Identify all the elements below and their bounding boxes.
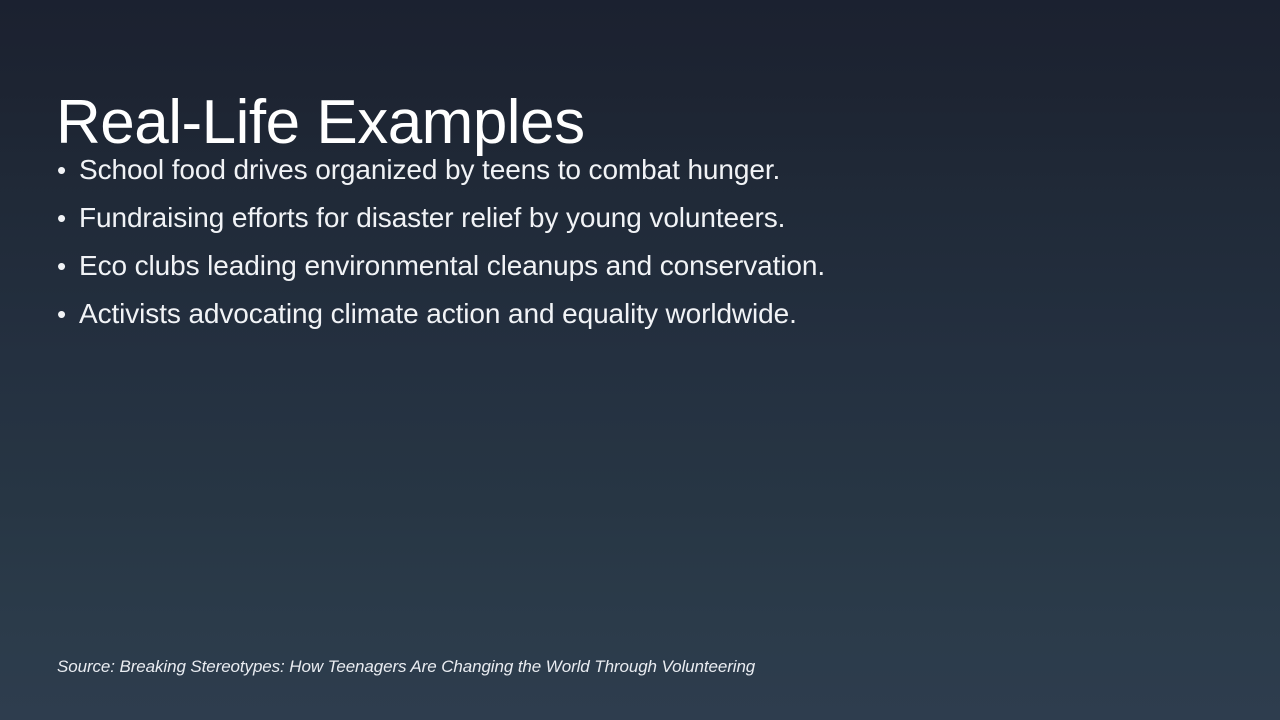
bullet-point-icon: •: [57, 205, 79, 231]
bullet-list: • School food drives organized by teens …: [57, 154, 1177, 346]
presentation-slide: Real-Life Examples • School food drives …: [0, 0, 1280, 720]
bullet-point-icon: •: [57, 253, 79, 279]
list-item: • Fundraising efforts for disaster relie…: [57, 202, 1177, 250]
list-item-label: Eco clubs leading environmental cleanups…: [79, 250, 825, 282]
page-title: Real-Life Examples: [56, 88, 585, 157]
list-item-label: Activists advocating climate action and …: [79, 298, 797, 330]
list-item: • Activists advocating climate action an…: [57, 298, 1177, 346]
list-item-label: Fundraising efforts for disaster relief …: [79, 202, 785, 234]
source-citation: Source: Breaking Stereotypes: How Teenag…: [57, 657, 755, 677]
bullet-point-icon: •: [57, 301, 79, 327]
bullet-point-icon: •: [57, 157, 79, 183]
list-item-label: School food drives organized by teens to…: [79, 154, 780, 186]
list-item: • School food drives organized by teens …: [57, 154, 1177, 202]
list-item: • Eco clubs leading environmental cleanu…: [57, 250, 1177, 298]
